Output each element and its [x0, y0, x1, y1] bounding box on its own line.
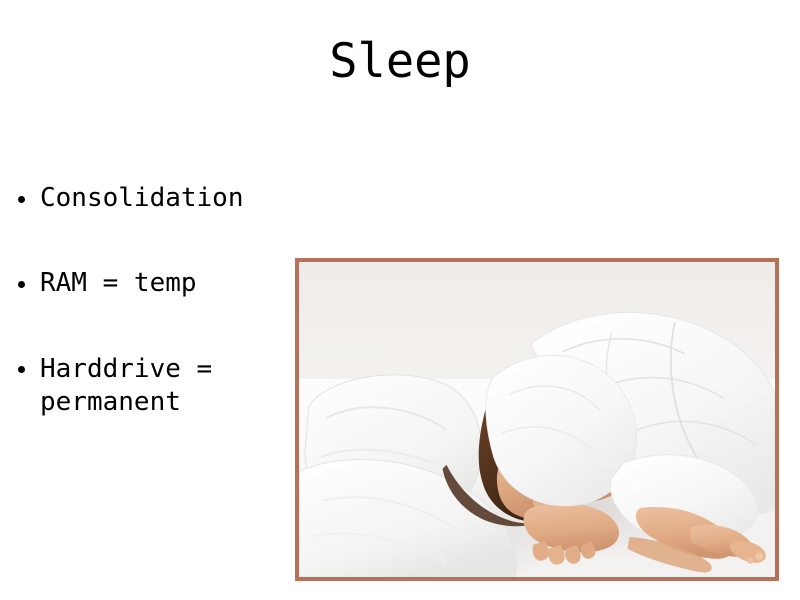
list-item: Consolidation: [14, 182, 304, 215]
page-title: Sleep: [0, 36, 800, 89]
list-item-label: RAM = temp: [40, 268, 197, 298]
bullet-list: Consolidation RAM = temp Harddrive = per…: [14, 182, 304, 419]
list-item-label: Consolidation: [40, 183, 244, 213]
bullet-dot-icon: [18, 196, 25, 203]
presentation-slide: Sleep Consolidation RAM = temp Harddrive…: [0, 0, 800, 600]
list-item: RAM = temp: [14, 267, 304, 300]
bullet-dot-icon: [18, 281, 25, 288]
slide-photo-frame: [295, 258, 779, 581]
list-item-label: Harddrive = permanent: [40, 354, 212, 417]
bullet-dot-icon: [18, 366, 25, 373]
sleeping-woman-photo: [299, 262, 775, 577]
list-item: Harddrive = permanent: [14, 353, 304, 420]
